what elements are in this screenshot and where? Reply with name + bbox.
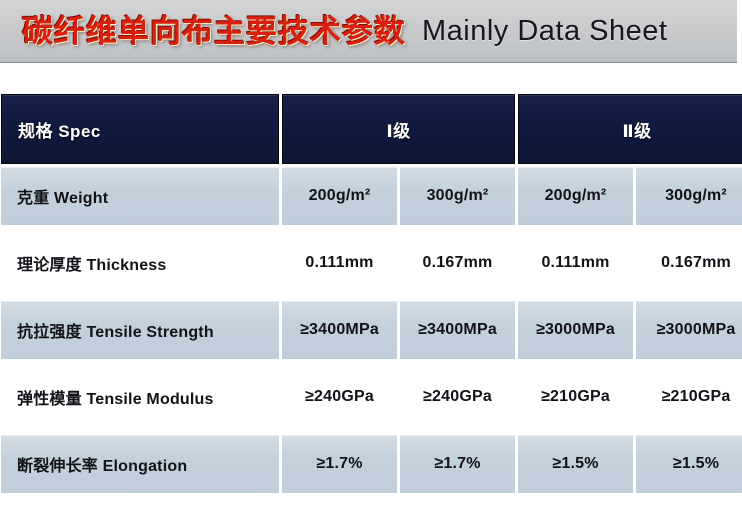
cell-value: ≥1.7%	[400, 455, 515, 473]
row-label-elongation: 断裂伸长率 Elongation	[1, 435, 279, 493]
cell-thickness-g1-300: 0.167mm	[400, 228, 515, 298]
row-label-weight: 克重 Weight	[1, 167, 279, 225]
table-row: 克重 Weight 200g/m² 300g/m² 200g/m² 300g/m…	[1, 167, 742, 225]
cell-elongation-g2-300: ≥1.5%	[636, 435, 742, 493]
table-header-row: 规格 Spec Ⅰ级 Ⅱ级	[1, 94, 742, 164]
cell-weight-g2-200: 200g/m²	[518, 167, 633, 225]
cell-elongation-g1-200: ≥1.7%	[282, 435, 397, 493]
cell-thickness-g2-300: 0.167mm	[636, 228, 742, 298]
cell-elongation-g1-300: ≥1.7%	[400, 435, 515, 493]
cell-weight-g1-200: 200g/m²	[282, 167, 397, 225]
cell-strength-g1-300: ≥3400MPa	[400, 301, 515, 359]
cell-value: ≥3000MPa	[518, 321, 633, 339]
header-cell-grade-1: Ⅰ级	[282, 94, 515, 164]
cell-thickness-g2-200: 0.111mm	[518, 228, 633, 298]
row-label-tensile-strength: 抗拉强度 Tensile Strength	[1, 301, 279, 359]
title-banner: 碳纤维单向布主要技术参数 Mainly Data Sheet	[0, 0, 737, 63]
cell-value: ≥1.5%	[636, 455, 742, 473]
row-label-text: 弹性模量 Tensile Modulus	[1, 385, 279, 409]
row-label-text: 理论厚度 Thickness	[1, 251, 279, 275]
header-cell-grade-2: Ⅱ级	[518, 94, 742, 164]
title-chinese: 碳纤维单向布主要技术参数	[22, 16, 406, 47]
table-row: 理论厚度 Thickness 0.111mm 0.167mm 0.111mm 0…	[1, 228, 742, 298]
cell-value: ≥3400MPa	[400, 321, 515, 339]
cell-weight-g2-300: 300g/m²	[636, 167, 742, 225]
row-label-thickness: 理论厚度 Thickness	[1, 228, 279, 298]
header-spec-label: 规格 Spec	[2, 117, 278, 142]
header-cell-spec: 规格 Spec	[1, 94, 279, 164]
title-english: Mainly Data Sheet	[422, 17, 667, 46]
cell-value: ≥1.7%	[282, 455, 397, 473]
cell-value: ≥240GPa	[282, 388, 397, 406]
row-label-text: 断裂伸长率 Elongation	[1, 452, 279, 476]
header-grade-2-label: Ⅱ级	[519, 117, 742, 142]
cell-value: 0.167mm	[636, 254, 742, 272]
spec-table: 规格 Spec Ⅰ级 Ⅱ级 克重 Weight 200g/m² 300g/m²	[0, 91, 742, 496]
cell-value: 200g/m²	[282, 187, 397, 205]
cell-value: 0.167mm	[400, 254, 515, 272]
cell-modulus-g2-300: ≥210GPa	[636, 362, 742, 432]
cell-modulus-g1-300: ≥240GPa	[400, 362, 515, 432]
row-label-tensile-modulus: 弹性模量 Tensile Modulus	[1, 362, 279, 432]
cell-value: 300g/m²	[636, 187, 742, 205]
cell-value: ≥3400MPa	[282, 321, 397, 339]
spec-table-container: 规格 Spec Ⅰ级 Ⅱ级 克重 Weight 200g/m² 300g/m²	[0, 63, 742, 508]
row-label-text: 抗拉强度 Tensile Strength	[1, 318, 279, 342]
cell-thickness-g1-200: 0.111mm	[282, 228, 397, 298]
cell-value: ≥240GPa	[400, 388, 515, 406]
cell-value: ≥1.5%	[518, 455, 633, 473]
cell-value: 300g/m²	[400, 187, 515, 205]
cell-modulus-g1-200: ≥240GPa	[282, 362, 397, 432]
table-row: 抗拉强度 Tensile Strength ≥3400MPa ≥3400MPa …	[1, 301, 742, 359]
cell-elongation-g2-200: ≥1.5%	[518, 435, 633, 493]
cell-value: 200g/m²	[518, 187, 633, 205]
cell-value: ≥210GPa	[518, 388, 633, 406]
table-row: 弹性模量 Tensile Modulus ≥240GPa ≥240GPa ≥21…	[1, 362, 742, 432]
cell-strength-g2-200: ≥3000MPa	[518, 301, 633, 359]
cell-modulus-g2-200: ≥210GPa	[518, 362, 633, 432]
cell-value: ≥210GPa	[636, 388, 742, 406]
row-label-text: 克重 Weight	[1, 184, 279, 208]
table-row: 断裂伸长率 Elongation ≥1.7% ≥1.7% ≥1.5% ≥1.5%	[1, 435, 742, 493]
cell-value: ≥3000MPa	[636, 321, 742, 339]
cell-value: 0.111mm	[282, 254, 397, 272]
header-grade-1-label: Ⅰ级	[283, 117, 514, 142]
cell-strength-g2-300: ≥3000MPa	[636, 301, 742, 359]
cell-weight-g1-300: 300g/m²	[400, 167, 515, 225]
cell-value: 0.111mm	[518, 254, 633, 272]
cell-strength-g1-200: ≥3400MPa	[282, 301, 397, 359]
